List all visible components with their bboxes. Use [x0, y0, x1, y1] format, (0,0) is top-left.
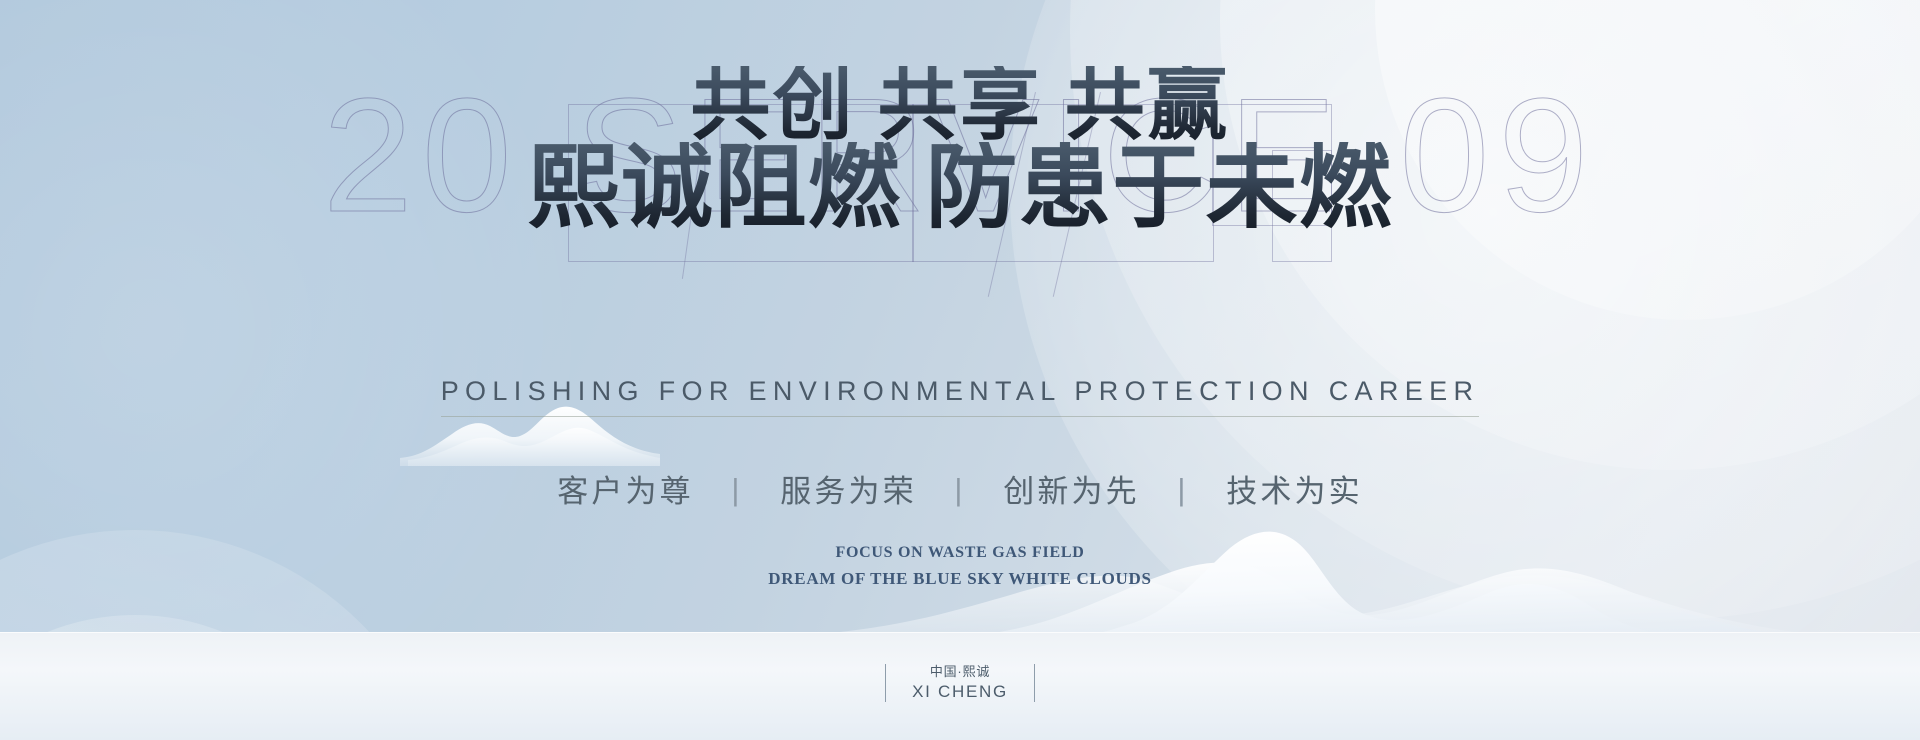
tagline-line-2: DREAM OF THE BLUE SKY WHITE CLOUDS [0, 566, 1920, 592]
headline-line-1: 共创 共享 共赢 [0, 66, 1920, 148]
value-list: 客户为尊 | 服务为荣 | 创新为先 | 技术为实 [0, 466, 1920, 511]
english-subtitle: POLISHING FOR ENVIRONMENTAL PROTECTION C… [441, 376, 1480, 417]
page-title: 共创 共享 共赢 熙诚阻燃 防患于未燃 [0, 66, 1920, 235]
floor-edge-line [0, 632, 1920, 633]
value-separator-3: | [1151, 472, 1214, 508]
tagline-block: FOCUS ON WASTE GAS FIELD DREAM OF THE BL… [0, 541, 1920, 592]
logo-name-en: XI CHENG [912, 681, 1008, 704]
value-separator-2: | [928, 472, 991, 508]
value-item-3: 创新为先 [1003, 466, 1139, 511]
logo-divider-right [1034, 664, 1035, 702]
tagline-line-1: FOCUS ON WASTE GAS FIELD [0, 541, 1920, 566]
logo-name-cn: 中国·熙诚 [912, 663, 1008, 681]
value-item-4: 技术为实 [1226, 466, 1362, 511]
logo-text: 中国·熙诚 XI CHENG [912, 663, 1008, 703]
value-item-2: 服务为荣 [780, 466, 916, 511]
value-separator-1: | [705, 472, 768, 508]
brand-logo[interactable]: 中国·熙诚 XI CHENG [0, 663, 1920, 703]
banner-stage: 20 SERVICE 09 共创 共享 共赢 熙诚阻燃 防患于未燃 POLISH… [0, 0, 1920, 740]
headline-line-2: 熙诚阻燃 防患于未燃 [0, 142, 1920, 236]
value-item-1: 客户为尊 [557, 466, 693, 511]
logo-divider-left [885, 664, 886, 702]
english-subtitle-wrap: POLISHING FOR ENVIRONMENTAL PROTECTION C… [0, 376, 1920, 417]
